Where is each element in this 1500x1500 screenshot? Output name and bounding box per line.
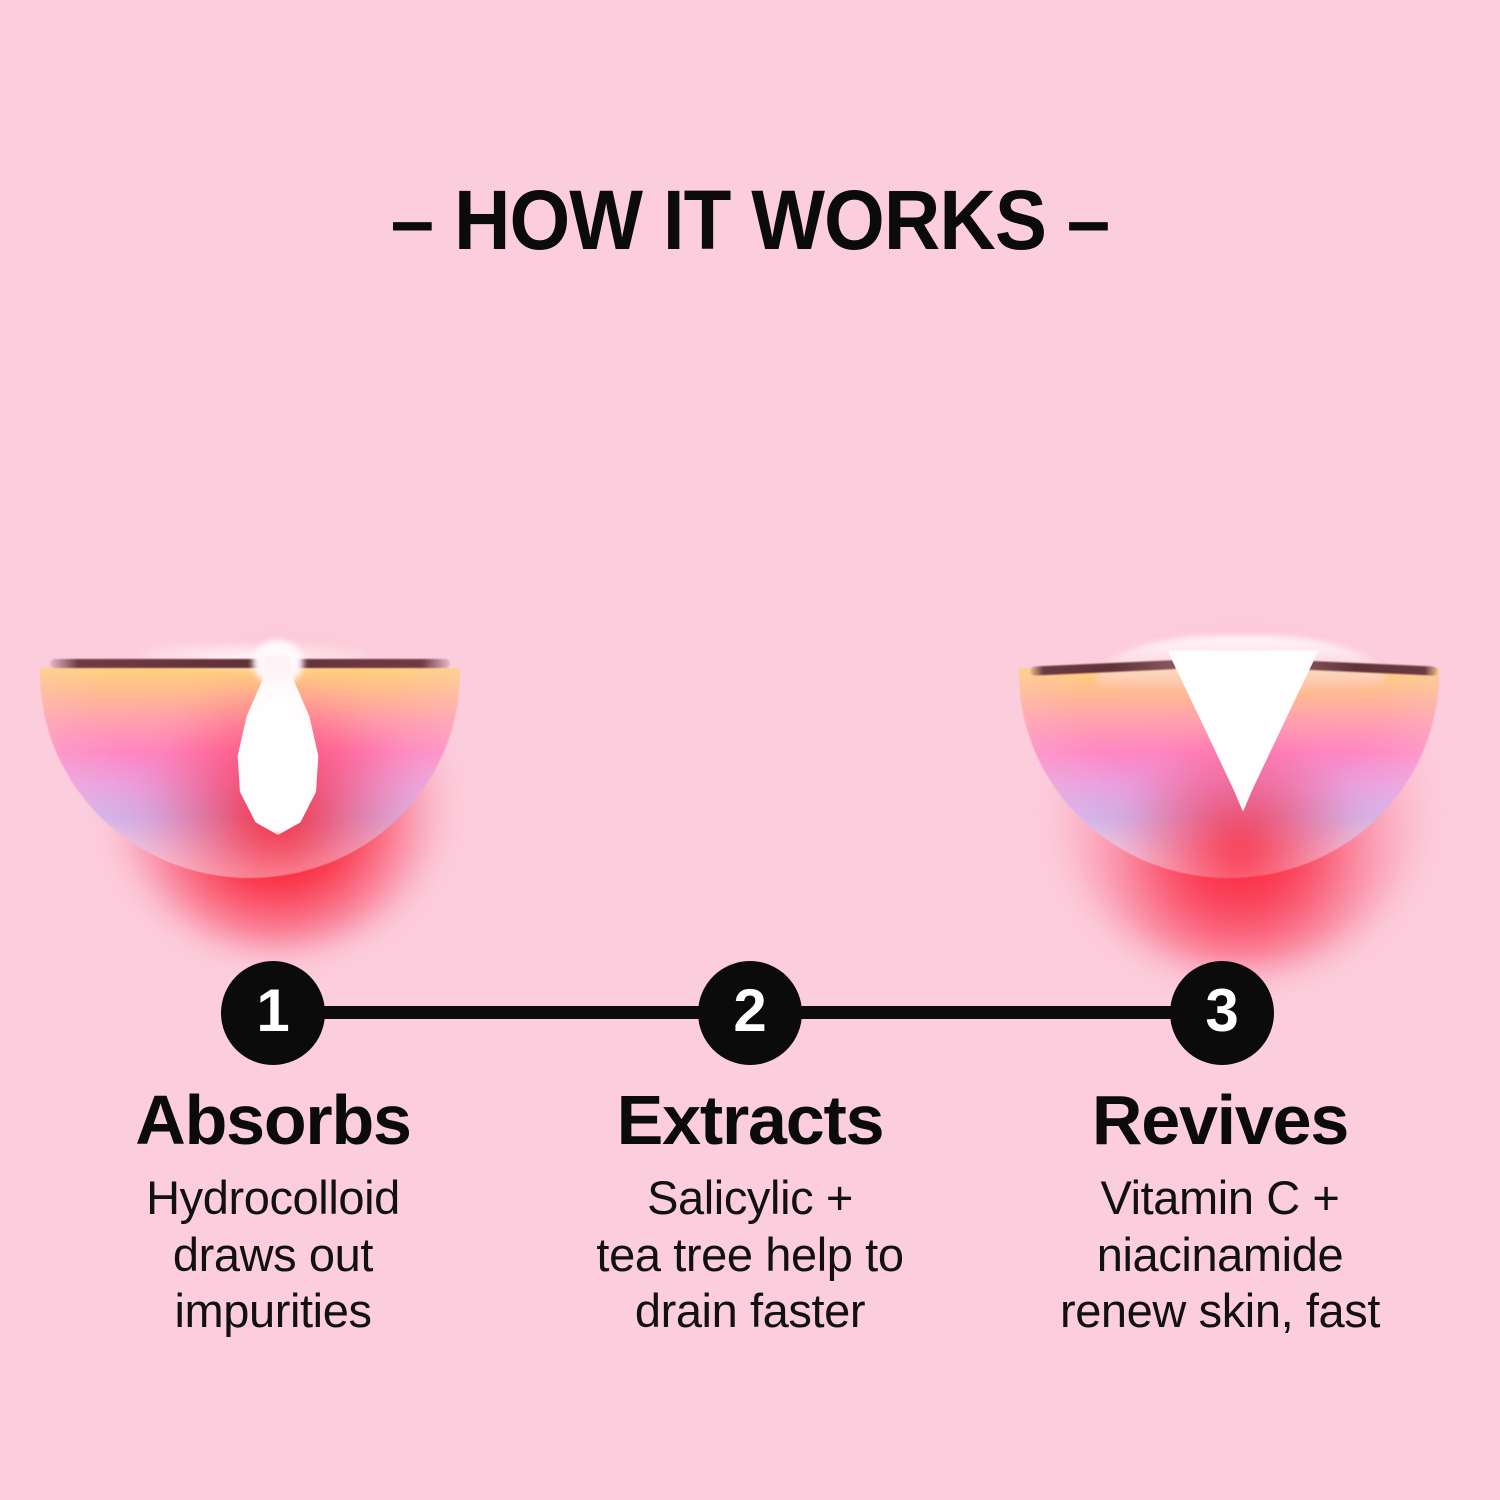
step-title-1: Absorbs: [43, 1085, 503, 1156]
how-it-works-infographic: { "page": { "background_color": "#fccddc…: [0, 0, 1500, 1500]
step-block-1: Absorbs Hydrocolloid draws out impuritie…: [43, 1085, 503, 1340]
step-number-1: 1: [256, 981, 289, 1041]
step-description-3: Vitamin C + niacinamide renew skin, fast: [990, 1170, 1450, 1339]
step-node-2[interactable]: 2: [698, 961, 802, 1065]
step-number-3: 3: [1205, 981, 1238, 1041]
step-description-2: Salicylic + tea tree help to drain faste…: [520, 1170, 980, 1339]
step-title-2: Extracts: [520, 1085, 980, 1156]
step-description-1: Hydrocolloid draws out impurities: [43, 1170, 503, 1339]
step-block-3: Revives Vitamin C + niacinamide renew sk…: [990, 1085, 1450, 1340]
step-block-2: Extracts Salicylic + tea tree help to dr…: [520, 1085, 980, 1340]
step-node-3[interactable]: 3: [1170, 961, 1274, 1065]
step-node-1[interactable]: 1: [221, 961, 325, 1065]
step-number-2: 2: [733, 981, 766, 1041]
step-title-3: Revives: [990, 1085, 1450, 1156]
